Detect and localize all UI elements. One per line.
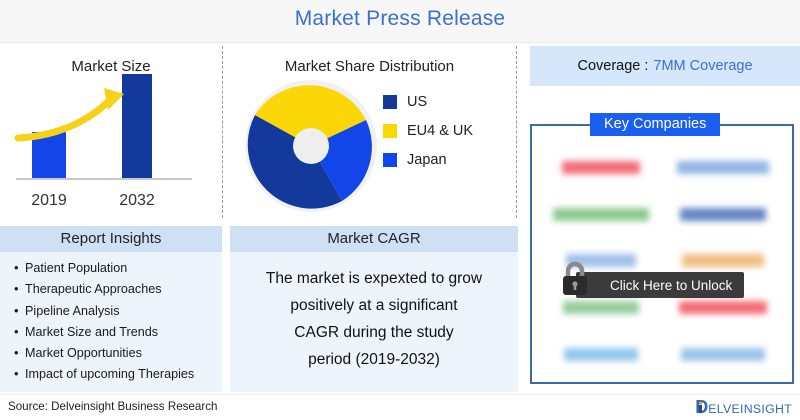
legend-item-eu4-uk: EU4 & UK — [383, 123, 473, 139]
donut-chart — [243, 78, 379, 214]
list-item: Patient Population — [14, 258, 222, 279]
company-logo — [540, 144, 662, 191]
report-insights-list: Patient Population Therapeutic Approache… — [0, 258, 222, 386]
market-cagr-panel: Market CAGR The market is expexted to gr… — [230, 226, 518, 392]
coverage-value: 7MM Coverage — [653, 58, 752, 74]
list-item: Pipeline Analysis — [14, 301, 222, 322]
legend-label-us: US — [407, 94, 427, 110]
legend-label-eu4-uk: EU4 & UK — [407, 123, 473, 139]
report-insights-panel: Report Insights Patient Population Thera… — [0, 226, 222, 392]
key-companies-panel — [530, 124, 794, 384]
unlock-label: Click Here to Unlock — [610, 278, 732, 293]
market-cagr-title: Market CAGR — [230, 226, 518, 252]
market-size-title: Market Size — [0, 58, 222, 75]
market-share-legend: US EU4 & UK Japan — [383, 94, 473, 181]
company-logo — [540, 331, 662, 378]
bar-label-2019: 2019 — [14, 192, 84, 210]
market-cagr-body: The market is expexted to grow positivel… — [230, 252, 518, 373]
divider-right — [516, 46, 517, 218]
source-text: Source: Delveinsight Business Research — [8, 400, 217, 413]
legend-item-us: US — [383, 94, 473, 110]
unlock-button[interactable]: Click Here to Unlock — [576, 272, 744, 298]
list-item: Impact of upcoming Therapies — [14, 364, 222, 385]
cagr-line: period (2019-2032) — [244, 346, 504, 373]
press-release-infographic: Market Press Release Market Size 2019 20… — [0, 0, 800, 420]
company-logo — [662, 144, 784, 191]
brand-initial: D — [695, 398, 708, 416]
key-companies-badge: Key Companies — [590, 113, 720, 136]
coverage-label: Coverage : — [577, 58, 648, 74]
delveinsight-logo: D ELVEINSIGHT — [695, 398, 792, 416]
market-share-title: Market Share Distribution — [223, 58, 516, 75]
legend-swatch-eu4-uk — [383, 124, 397, 138]
legend-swatch-japan — [383, 153, 397, 167]
header-bar: Market Press Release — [0, 0, 800, 43]
coverage-banner: Coverage : 7MM Coverage — [530, 46, 800, 86]
list-item: Market Size and Trends — [14, 322, 222, 343]
footer-bar: Source: Delveinsight Business Research D… — [0, 394, 800, 420]
legend-item-japan: Japan — [383, 152, 473, 168]
bar-label-2032: 2032 — [102, 192, 172, 210]
market-size-chart: 2019 2032 — [0, 86, 222, 222]
list-item: Market Opportunities — [14, 343, 222, 364]
cagr-line: CAGR during the study — [244, 319, 504, 346]
company-logo — [662, 191, 784, 238]
market-share-panel: Market Share Distribution US EU4 & UK — [223, 46, 516, 222]
market-size-panel: Market Size 2019 2032 — [0, 46, 222, 222]
cagr-line: positively at a significant — [244, 292, 504, 319]
company-logo — [662, 331, 784, 378]
padlock-icon[interactable] — [558, 258, 592, 298]
page-title: Market Press Release — [0, 7, 800, 31]
brand-name: ELVEINSIGHT — [708, 402, 792, 416]
legend-label-japan: Japan — [407, 152, 447, 168]
legend-swatch-us — [383, 95, 397, 109]
report-insights-title: Report Insights — [0, 226, 222, 252]
list-item: Therapeutic Approaches — [14, 279, 222, 300]
cagr-line: The market is expexted to grow — [244, 265, 504, 292]
company-logo — [540, 191, 662, 238]
brand-figure-icon — [698, 401, 703, 413]
